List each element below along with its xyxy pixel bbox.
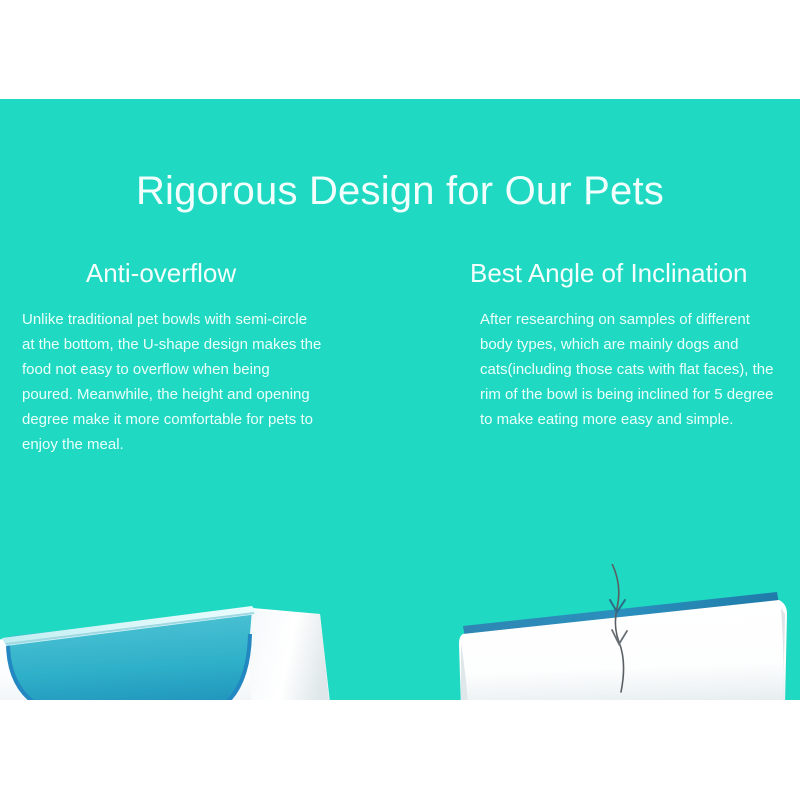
product-image-bowl-side-view xyxy=(0,594,350,700)
promo-page: Rigorous Design for Our Pets Anti-overfl… xyxy=(0,0,800,800)
feature-heading-anti-overflow: Anti-overflow xyxy=(22,259,322,289)
feature-heading-best-angle: Best Angle of Inclination xyxy=(470,259,780,289)
feature-column-best-angle: Best Angle of Inclination After research… xyxy=(470,259,780,432)
page-title: Rigorous Design for Our Pets xyxy=(0,169,800,213)
feature-body-best-angle: After researching on samples of differen… xyxy=(470,307,780,432)
feature-column-anti-overflow: Anti-overflow Unlike traditional pet bow… xyxy=(22,259,322,457)
teal-banner: Rigorous Design for Our Pets Anti-overfl… xyxy=(0,99,800,700)
product-image-bowl-front-view xyxy=(445,564,795,700)
feature-body-anti-overflow: Unlike traditional pet bowls with semi-c… xyxy=(22,307,322,457)
bowl-right-panel xyxy=(248,610,331,700)
